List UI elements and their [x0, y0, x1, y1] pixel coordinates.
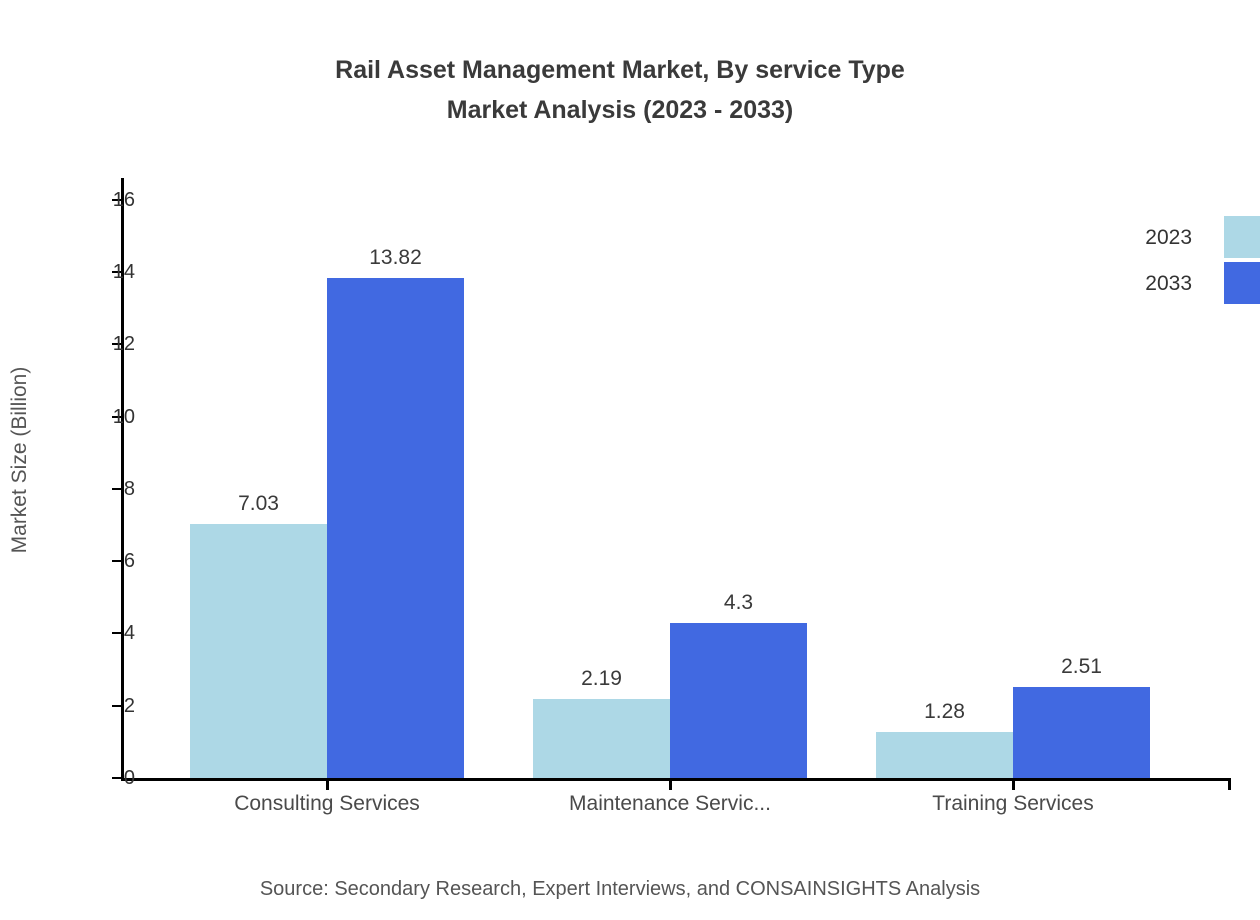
chart-title-line1: Rail Asset Management Market, By service…	[335, 56, 905, 84]
y-axis-title-text: Market Size (Billion)	[8, 367, 32, 554]
y-tick-label-14: 14	[75, 262, 135, 282]
bar-2023-2[interactable]	[876, 732, 1013, 778]
bar-value-label-2023-0: 7.03	[238, 492, 279, 516]
x-axis-label-2: Training Services	[932, 792, 1093, 816]
x-axis-label-1: Maintenance Servic...	[569, 792, 771, 816]
legend-label-2033: 2033	[1145, 272, 1192, 296]
x-axis-line	[121, 778, 1231, 781]
y-tick-label-10: 10	[75, 407, 135, 427]
y-tick-label-0: 0	[75, 768, 135, 788]
bar-2023-0[interactable]	[190, 524, 327, 778]
y-tick-label-2: 2	[75, 696, 135, 716]
bar-chart: Rail Asset Management Market, By service…	[0, 0, 1260, 920]
legend-item-2033[interactable]: 2033	[1100, 262, 1260, 306]
bar-value-label-2023-1: 2.19	[581, 667, 622, 691]
source-note: Source: Secondary Research, Expert Inter…	[0, 878, 1240, 901]
bar-2033-1[interactable]	[670, 623, 807, 778]
y-tick-label-8: 8	[75, 479, 135, 499]
y-tick-label-12: 12	[75, 334, 135, 354]
legend-label-2023: 2023	[1145, 226, 1192, 250]
legend-swatch-2023	[1224, 216, 1260, 258]
x-axis-label-0: Consulting Services	[234, 792, 420, 816]
chart-title: Rail Asset Management Market, By service…	[0, 50, 1240, 130]
bar-value-label-2033-1: 4.3	[724, 591, 753, 615]
bar-2033-0[interactable]	[327, 278, 464, 778]
bar-value-label-2023-2: 1.28	[924, 700, 965, 724]
x-axis-endcap	[1228, 778, 1231, 790]
y-tick-label-4: 4	[75, 623, 135, 643]
plot-area	[121, 178, 1231, 781]
chart-title-line2: Market Analysis (2023 - 2033)	[0, 90, 1240, 130]
legend-item-2023[interactable]: 2023	[1100, 216, 1260, 260]
legend: 2023 2033	[1100, 216, 1260, 312]
x-tick-1	[669, 778, 672, 790]
bar-value-label-2033-0: 13.82	[369, 246, 422, 270]
x-tick-0	[326, 778, 329, 790]
y-tick-label-6: 6	[75, 551, 135, 571]
bar-value-label-2033-2: 2.51	[1061, 655, 1102, 679]
y-axis-title: Market Size (Billion)	[0, 0, 40, 920]
y-tick-label-16: 16	[75, 190, 135, 210]
bar-2033-2[interactable]	[1013, 687, 1150, 778]
legend-swatch-2033	[1224, 262, 1260, 304]
bar-2023-1[interactable]	[533, 699, 670, 778]
x-tick-2	[1012, 778, 1015, 790]
